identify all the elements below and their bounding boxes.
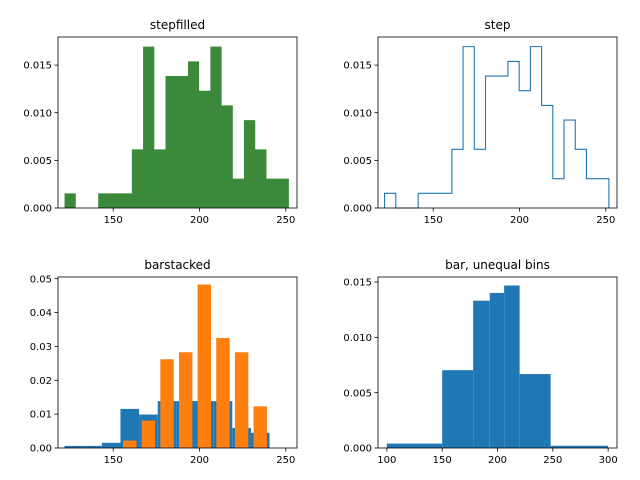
axes-title: step [485,18,511,32]
histogram-bar [123,441,136,448]
x-tick-label: 300 [599,455,618,466]
histogram-bar [235,352,248,448]
subplot-stepfilled[interactable]: 1502002500.0000.0050.0100.015stepfilled [0,0,320,240]
y-tick-label: 0.010 [343,108,372,119]
y-tick-label: 0.005 [23,156,52,167]
y-tick-label: 0.01 [30,410,52,421]
data-layer-bar-unequal-bins [387,286,608,448]
y-tick-label: 0.015 [343,278,372,289]
histogram-bar [442,370,473,448]
y-tick-label: 0.000 [343,444,372,455]
histogram-filled-area [65,47,289,208]
axes-spines [378,37,617,208]
y-tick-label: 0.005 [343,388,372,399]
y-tick-label: 0.05 [30,274,52,285]
histogram-bar [490,293,504,448]
y-tick-label: 0.04 [30,308,52,319]
x-tick-label: 250 [276,215,295,226]
axes-title: bar, unequal bins [445,258,550,272]
subplot-bar-unequal-bins[interactable]: 1001502002503000.0000.0050.0100.015bar, … [320,240,640,480]
x-tick-label: 200 [190,455,209,466]
y-tick-label: 0.03 [30,342,52,353]
x-tick-label: 250 [276,455,295,466]
histogram-step-outline [385,47,609,208]
subplot-barstacked[interactable]: 1502002500.000.010.020.030.040.05barstac… [0,240,320,480]
histogram-bar [179,352,192,448]
histogram-bar [160,359,173,448]
histogram-bar [504,286,519,448]
y-tick-label: 0.02 [30,376,52,387]
plot-canvas-stepfilled: 1502002500.0000.0050.0100.015stepfilled [0,0,320,240]
x-tick-label: 200 [510,215,529,226]
x-tick-label: 100 [377,455,396,466]
histogram-bar [254,406,267,448]
plot-canvas-bar-unequal-bins: 1001502002503000.0000.0050.0100.015bar, … [320,240,640,480]
subplot-step[interactable]: 1502002500.0000.0050.0100.015step [320,0,640,240]
histogram-bar [473,301,490,448]
x-tick-label: 250 [596,215,615,226]
histogram-bar [216,338,229,448]
x-tick-label: 150 [104,215,123,226]
histogram-bar [102,443,121,448]
y-tick-label: 0.015 [23,61,52,72]
y-tick-label: 0.010 [23,108,52,119]
y-tick-label: 0.010 [343,333,372,344]
x-tick-label: 200 [190,215,209,226]
histogram-bar [387,444,442,448]
x-tick-label: 150 [424,215,443,226]
matplotlib-figure: 1502002500.0000.0050.0100.015stepfilled1… [0,0,640,480]
y-tick-label: 0.000 [343,204,372,215]
y-tick-label: 0.005 [343,156,372,167]
data-layer-stepfilled [65,47,289,208]
x-tick-label: 200 [488,455,507,466]
y-tick-label: 0.000 [23,204,52,215]
histogram-bar [198,285,211,448]
data-layer-barstacked [65,285,270,448]
plot-canvas-step: 1502002500.0000.0050.0100.015step [320,0,640,240]
plot-canvas-barstacked: 1502002500.000.010.020.030.040.05barstac… [0,240,320,480]
y-tick-label: 0.00 [30,444,52,455]
x-tick-label: 150 [104,455,123,466]
histogram-bar [520,374,551,448]
x-tick-label: 250 [543,455,562,466]
histogram-bar [142,421,155,448]
data-layer-step [385,47,609,208]
axes-title: stepfilled [150,18,205,32]
x-tick-label: 150 [433,455,452,466]
axes-title: barstacked [144,258,210,272]
y-tick-label: 0.015 [343,61,372,72]
